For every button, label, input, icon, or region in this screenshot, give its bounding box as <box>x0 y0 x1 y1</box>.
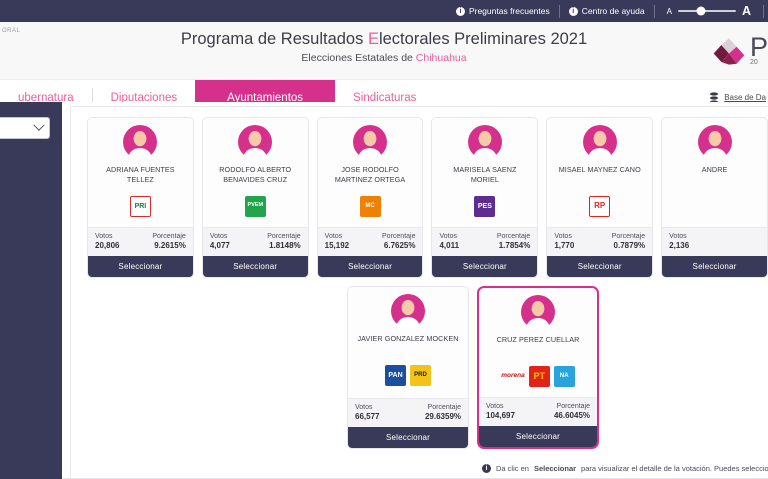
card-stats: Votos Porcentaje 20,806 9.2615% <box>88 227 193 256</box>
card-stats: Votos Porcentaje 104,697 46.6045% <box>479 397 597 426</box>
percent-value: 6.7625% <box>384 241 416 250</box>
candidate-name: JAVIER GONZALEZ MOCKEN <box>357 334 458 354</box>
card-stats: Votos Porcentaje 15,192 6.7625% <box>318 227 423 256</box>
font-size-large-label: A <box>742 4 751 18</box>
page-title-part1: Programa de Resultados <box>181 30 368 48</box>
left-sidebar <box>0 102 62 479</box>
faq-label: Preguntas frecuentes <box>469 0 550 22</box>
row-spacer <box>217 286 339 449</box>
page-header: ORAL Programa de Resultados Electorales … <box>0 22 768 80</box>
movimiento-ciudadano-logo: MC <box>360 196 381 217</box>
card-stats: Votos 2,136 <box>662 227 767 256</box>
results-panel: ADRIANA FUENTES TELLEZ PRI Votos Porcent… <box>70 106 768 479</box>
candidate-card[interactable]: RODOLFO ALBERTO BENAVIDES CRUZ PVEM Voto… <box>202 117 309 278</box>
card-body: JOSE RODOLFO MARTINEZ ORTEGA MC <box>318 118 423 227</box>
page-title-accent: E <box>368 30 379 48</box>
votes-label: Votos <box>355 404 373 411</box>
votes-value: 1,770 <box>554 241 574 250</box>
select-button[interactable]: Seleccionar <box>432 256 537 277</box>
page-title: Programa de Resultados Electorales Preli… <box>0 30 768 49</box>
select-button[interactable]: Seleccionar <box>203 256 308 277</box>
candidate-card[interactable]: ANDRE Votos 2,136 Seleccionar <box>661 117 768 278</box>
selection-hint: i Da clic en Seleccionar para visualizar… <box>62 464 768 473</box>
font-size-slider[interactable]: A A <box>655 4 763 18</box>
avatar <box>238 125 272 159</box>
card-stats: Votos Porcentaje 4,011 1.7854% <box>432 227 537 256</box>
subtitle-prefix: Elecciones Estatales de <box>301 52 415 64</box>
percent-label: Porcentaje <box>267 233 300 240</box>
candidate-card-selected[interactable]: CRUZ PEREZ CUELLAR morena PT NA Votos Po… <box>477 286 599 449</box>
hint-suffix: para visualizar el detalle de la votació… <box>581 464 768 473</box>
pvem-logo: PVEM <box>245 196 266 217</box>
percent-label: Porcentaje <box>612 233 645 240</box>
candidate-row-2: JAVIER GONZALEZ MOCKEN PAN PRD Votos Por… <box>87 286 768 449</box>
votes-value: 104,697 <box>486 411 515 420</box>
votes-label: Votos <box>325 233 343 240</box>
votes-label: Votos <box>95 233 113 240</box>
percent-value: 29.6359% <box>425 412 461 421</box>
votes-value: 20,806 <box>95 241 119 250</box>
candidate-row-1: ADRIANA FUENTES TELLEZ PRI Votos Porcent… <box>87 117 768 278</box>
avatar <box>123 125 157 159</box>
card-stats: Votos Porcentaje 1,770 0.7879% <box>547 227 652 256</box>
select-button[interactable]: Seleccionar <box>479 426 597 447</box>
candidate-name: JOSE RODOLFO MARTINEZ ORTEGA <box>324 165 417 185</box>
card-body: ADRIANA FUENTES TELLEZ PRI <box>88 118 193 227</box>
percent-value: 1.7854% <box>499 241 531 250</box>
avatar <box>468 125 502 159</box>
nueva-alianza-logo: NA <box>554 366 575 387</box>
candidate-card[interactable]: MISAEL MAYNEZ CANO RP Votos Porcentaje 1… <box>546 117 653 278</box>
candidate-card[interactable]: MARISELA SAENZ MORIEL PES Votos Porcenta… <box>431 117 538 278</box>
card-body: CRUZ PEREZ CUELLAR morena PT NA <box>479 288 597 397</box>
municipality-select[interactable] <box>0 117 50 139</box>
database-label: Base de Da <box>724 93 766 102</box>
results-content: ADRIANA FUENTES TELLEZ PRI Votos Porcent… <box>62 102 768 479</box>
candidate-card[interactable]: ADRIANA FUENTES TELLEZ PRI Votos Porcent… <box>87 117 194 278</box>
chevron-down-icon <box>33 120 44 131</box>
votes-value: 2,136 <box>669 241 689 250</box>
votes-label: Votos <box>669 233 687 240</box>
select-button[interactable]: Seleccionar <box>547 256 652 277</box>
candidate-name: CRUZ PEREZ CUELLAR <box>497 335 580 355</box>
candidate-name: MISAEL MAYNEZ CANO <box>559 165 641 185</box>
pt-logo: PT <box>529 366 550 387</box>
party-logos: RP <box>589 195 610 217</box>
card-body: MISAEL MAYNEZ CANO RP <box>547 118 652 227</box>
candidate-card[interactable]: JOSE RODOLFO MARTINEZ ORTEGA MC Votos Po… <box>317 117 424 278</box>
morena-logo: morena <box>501 366 524 387</box>
percent-label: Porcentaje <box>382 233 415 240</box>
percent-value: 1.8148% <box>269 241 301 250</box>
title-block: Programa de Resultados Electorales Preli… <box>0 22 768 64</box>
card-stats: Votos Porcentaje 66,577 29.6359% <box>348 398 468 427</box>
candidate-name: ADRIANA FUENTES TELLEZ <box>94 165 187 185</box>
help-center-label: Centro de ayuda <box>582 0 645 22</box>
avatar <box>391 294 425 328</box>
prd-logo: PRD <box>410 365 431 386</box>
votes-value: 4,011 <box>439 241 459 250</box>
hint-prefix: Da clic en <box>496 464 529 473</box>
institution-logo-text: ORAL <box>2 28 20 34</box>
percent-label: Porcentaje <box>497 233 530 240</box>
card-stats: Votos Porcentaje 4,077 1.8148% <box>203 227 308 256</box>
percent-value: 0.7879% <box>614 241 646 250</box>
rp-logo: RP <box>589 196 610 217</box>
avatar <box>353 125 387 159</box>
avatar <box>521 295 555 329</box>
votes-value: 66,577 <box>355 412 379 421</box>
candidate-cards: ADRIANA FUENTES TELLEZ PRI Votos Porcent… <box>71 107 768 449</box>
info-icon: i <box>456 7 465 16</box>
prep-logo-icon <box>712 36 746 66</box>
pri-logo: PRI <box>130 196 151 217</box>
info-icon: i <box>569 7 578 16</box>
party-logos: morena PT NA <box>501 365 574 387</box>
slider-knob[interactable] <box>697 7 706 16</box>
votes-label: Votos <box>486 403 504 410</box>
prep-brand: P 20 <box>712 36 768 66</box>
select-button[interactable]: Seleccionar <box>88 256 193 277</box>
party-logos: PES <box>474 195 495 217</box>
utility-topbar: i Preguntas frecuentes i Centro de ayuda… <box>0 0 768 22</box>
card-body: MARISELA SAENZ MORIEL PES <box>432 118 537 227</box>
prep-brand-text: P <box>750 36 768 59</box>
votes-value: 15,192 <box>325 241 349 250</box>
help-center-link[interactable]: i Centro de ayuda <box>560 0 654 22</box>
pes-logo: PES <box>474 196 495 217</box>
pan-logo: PAN <box>385 365 406 386</box>
party-logos: PRI <box>130 195 151 217</box>
candidate-name: RODOLFO ALBERTO BENAVIDES CRUZ <box>209 165 302 185</box>
subtitle-state: Chihuahua <box>416 52 467 64</box>
select-button[interactable]: Seleccionar <box>662 256 767 277</box>
percent-value: 46.6045% <box>554 411 590 420</box>
avatar <box>583 125 617 159</box>
divider <box>763 5 764 18</box>
percent-value: 9.2615% <box>154 241 186 250</box>
party-logos: PAN PRD <box>385 364 431 386</box>
hint-bold: Seleccionar <box>534 464 576 473</box>
info-icon: i <box>482 464 491 473</box>
party-logos: MC <box>360 195 381 217</box>
card-body: JAVIER GONZALEZ MOCKEN PAN PRD <box>348 287 468 398</box>
faq-link[interactable]: i Preguntas frecuentes <box>447 0 559 22</box>
font-size-small-label: A <box>667 7 672 16</box>
votes-value: 4,077 <box>210 241 230 250</box>
votes-label: Votos <box>439 233 457 240</box>
select-button[interactable]: Seleccionar <box>318 256 423 277</box>
votes-label: Votos <box>554 233 572 240</box>
page-subtitle: Elecciones Estatales de Chihuahua <box>0 52 768 64</box>
select-button[interactable]: Seleccionar <box>348 427 468 448</box>
candidate-name: ANDRE <box>702 165 728 185</box>
percent-label: Porcentaje <box>428 404 461 411</box>
candidate-card[interactable]: JAVIER GONZALEZ MOCKEN PAN PRD Votos Por… <box>347 286 469 449</box>
party-logos: PVEM <box>245 195 266 217</box>
card-body: RODOLFO ALBERTO BENAVIDES CRUZ PVEM <box>203 118 308 227</box>
avatar <box>698 125 732 159</box>
votes-label: Votos <box>210 233 228 240</box>
percent-label: Porcentaje <box>152 233 185 240</box>
percent-label: Porcentaje <box>557 403 590 410</box>
page-title-part2: lectorales Preliminares 2021 <box>379 30 587 48</box>
card-body: ANDRE <box>662 118 767 227</box>
row-spacer <box>87 286 209 449</box>
candidate-name: MARISELA SAENZ MORIEL <box>438 165 531 185</box>
slider-track[interactable] <box>678 10 736 12</box>
